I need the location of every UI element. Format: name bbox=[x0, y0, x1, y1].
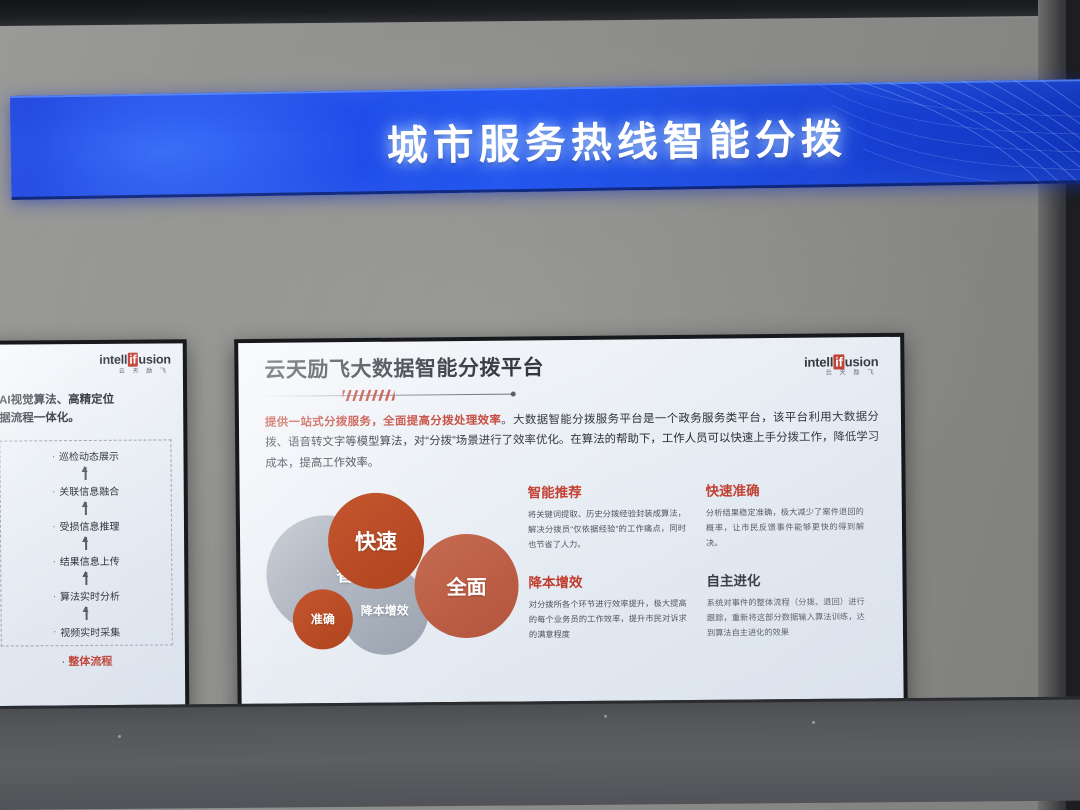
left-flow-caption: · 整体流程 bbox=[1, 653, 173, 670]
brand-prefix: intell bbox=[99, 353, 127, 367]
feature-body-2: 分析结果稳定准确，极大减少了案件退回的概率，让市民反馈事件能够更快的得到解决。 bbox=[706, 504, 864, 551]
bubble-quanmian: 全面 bbox=[414, 533, 519, 638]
feature-card-kuaisuzhunque: 快速准确 分析结果稳定准确，极大减少了案件退回的概率，让市民反馈事件能够更快的得… bbox=[706, 478, 865, 551]
main-poster-title: 云天励飞大数据智能分拨平台 bbox=[264, 356, 544, 382]
left-lead-line-2: 据流程一体化。 bbox=[0, 409, 171, 429]
main-poster-header: 云天励飞大数据智能分拨平台 intellifusion 云 天 励 飞 bbox=[264, 353, 878, 401]
left-poster-lead: AI视觉算法、高精定位 据流程一体化。 bbox=[0, 390, 171, 429]
flow-step-3-label: 结果信息上传 bbox=[60, 553, 120, 568]
main-poster-logo: intellifusion 云 天 励 飞 bbox=[804, 355, 879, 377]
title-hatch-marks-icon bbox=[343, 390, 395, 401]
bullet-dot-icon: · bbox=[53, 556, 56, 566]
main-poster: 云天励飞大数据智能分拨平台 intellifusion 云 天 励 飞 提供一站… bbox=[238, 337, 904, 721]
flow-arrow-up-icon-2 bbox=[86, 572, 87, 585]
base-speck bbox=[118, 735, 121, 738]
led-banner: 城市服务热线智能分拨 bbox=[10, 77, 1080, 200]
flow-step-2: ·算法实时分析 bbox=[53, 588, 120, 603]
bullet-dot-icon: · bbox=[53, 626, 56, 636]
brand-highlight: if bbox=[128, 353, 138, 367]
base-speck bbox=[812, 721, 815, 724]
exhibition-scene: 城市服务热线智能分拨 intellifusion 云 天 励 飞 AI视觉算法、… bbox=[0, 0, 1080, 810]
flow-step-1-label: 视频实时采集 bbox=[60, 623, 120, 638]
base-speck bbox=[604, 715, 607, 718]
feature-card-zhinengtuijian: 智能推荐 将关键词提取、历史分拨经验封装成算法，解决分拨员“仅依据经验”的工作痛… bbox=[528, 480, 687, 553]
feature-heading-1: 智能推荐 bbox=[528, 480, 686, 502]
flow-step-4-label: 受损信息推理 bbox=[59, 518, 119, 533]
brand-suffix: usion bbox=[845, 354, 879, 369]
feature-heading-4: 自主进化 bbox=[706, 568, 864, 590]
feature-body-1: 将关键词提取、历史分拨经验封装成算法，解决分拨员“仅依据经验”的工作痛点，同时也… bbox=[528, 506, 686, 553]
left-lead-line-1: AI视觉算法、高精定位 bbox=[0, 390, 171, 410]
flow-step-5: ·关联信息融合 bbox=[52, 483, 119, 498]
feature-card-zizhujinhua: 自主进化 系统对事件的整体流程（分拨、退回）进行跟踪，重新将这部分数据输入算法训… bbox=[706, 568, 865, 641]
flow-step-5-label: 关联信息融合 bbox=[59, 483, 119, 498]
left-flow-diagram: ·视频实时采集 ·算法实时分析 ·结果信息上传 ·受损信息推理 ·关联信息融合 … bbox=[0, 440, 173, 647]
feature-heading-2: 快速准确 bbox=[706, 478, 864, 500]
flow-arrow-up-icon-4 bbox=[85, 502, 86, 515]
main-title-block: 云天励飞大数据智能分拨平台 bbox=[264, 356, 544, 401]
flow-step-2-label: 算法实时分析 bbox=[60, 588, 120, 603]
title-rule-dot-icon bbox=[511, 391, 516, 396]
flow-step-6: ·巡检动态展示 bbox=[52, 448, 119, 463]
left-poster-frame: intellifusion 云 天 励 飞 AI视觉算法、高精定位 据流程一体化… bbox=[0, 339, 189, 716]
left-poster-logo: intellifusion 云 天 励 飞 bbox=[0, 353, 171, 375]
main-poster-frame: 云天励飞大数据智能分拨平台 intellifusion 云 天 励 飞 提供一站… bbox=[234, 333, 908, 725]
flow-step-1: ·视频实时采集 bbox=[53, 623, 120, 638]
feature-body-3: 对分拨所各个环节进行效率提升，极大提高的每个业务员的工作效率，提升市民对诉求的满… bbox=[529, 595, 687, 642]
feature-grid: 智能推荐 将关键词提取、历史分拨经验封装成算法，解决分拨员“仅依据经验”的工作痛… bbox=[528, 478, 866, 642]
flow-arrow-up-icon-1 bbox=[86, 607, 87, 620]
feature-card-jiangbenzengxiao: 降本增效 对分拨所各个环节进行效率提升，极大提高的每个业务员的工作效率，提升市民… bbox=[528, 569, 687, 642]
bullet-dot-icon: · bbox=[52, 486, 55, 496]
banner-title: 城市服务热线智能分拨 bbox=[10, 77, 1080, 200]
bullet-dot-icon: · bbox=[52, 521, 55, 531]
display-base bbox=[0, 697, 1080, 810]
paragraph-highlight: 提供一站式分拨服务，全面提高分拨处理效率 bbox=[265, 415, 501, 429]
feature-heading-3: 降本增效 bbox=[528, 569, 686, 591]
bubble-zhunque: 准确 bbox=[293, 589, 354, 650]
left-flow-caption-label: 整体流程 bbox=[68, 656, 112, 668]
bubble-kuaisu: 快速 bbox=[328, 492, 425, 589]
flow-step-4: ·受损信息推理 bbox=[52, 518, 119, 533]
flow-step-6-label: 巡检动态展示 bbox=[59, 448, 119, 463]
brand-highlight: if bbox=[834, 354, 845, 369]
brand-wordmark: intellifusion bbox=[99, 353, 171, 366]
flow-arrow-up-icon-5 bbox=[85, 467, 86, 480]
main-poster-body: 智能 快速 全面 降本增效 准确 智能推荐 将关键词提取、历史分拨经验封装成算法… bbox=[266, 478, 882, 674]
feature-body-4: 系统对事件的整体流程（分拨、退回）进行跟踪，重新将这部分数据输入算法训练，达到算… bbox=[707, 594, 865, 641]
brand-prefix: intell bbox=[804, 354, 833, 369]
brand-chinese-name: 云 天 励 飞 bbox=[119, 368, 169, 374]
bullet-dot-icon: · bbox=[52, 451, 55, 461]
brand-suffix: usion bbox=[138, 352, 170, 366]
flow-step-3: ·结果信息上传 bbox=[53, 553, 120, 568]
brand-chinese-name: 云 天 励 飞 bbox=[826, 370, 877, 377]
main-poster-paragraph: 提供一站式分拨服务，全面提高分拨处理效率。大数据智能分拨服务平台是一个政务服务类… bbox=[265, 407, 880, 474]
title-underline-decoration bbox=[265, 389, 515, 401]
left-poster: intellifusion 云 天 励 飞 AI视觉算法、高精定位 据流程一体化… bbox=[0, 343, 185, 712]
bubble-diagram: 智能 快速 全面 降本增效 准确 bbox=[266, 488, 516, 670]
bullet-dot-icon: · bbox=[53, 591, 56, 601]
flow-arrow-up-icon-3 bbox=[85, 537, 86, 550]
bullet-dot-icon: · bbox=[62, 657, 66, 669]
brand-wordmark: intellifusion bbox=[804, 355, 878, 369]
